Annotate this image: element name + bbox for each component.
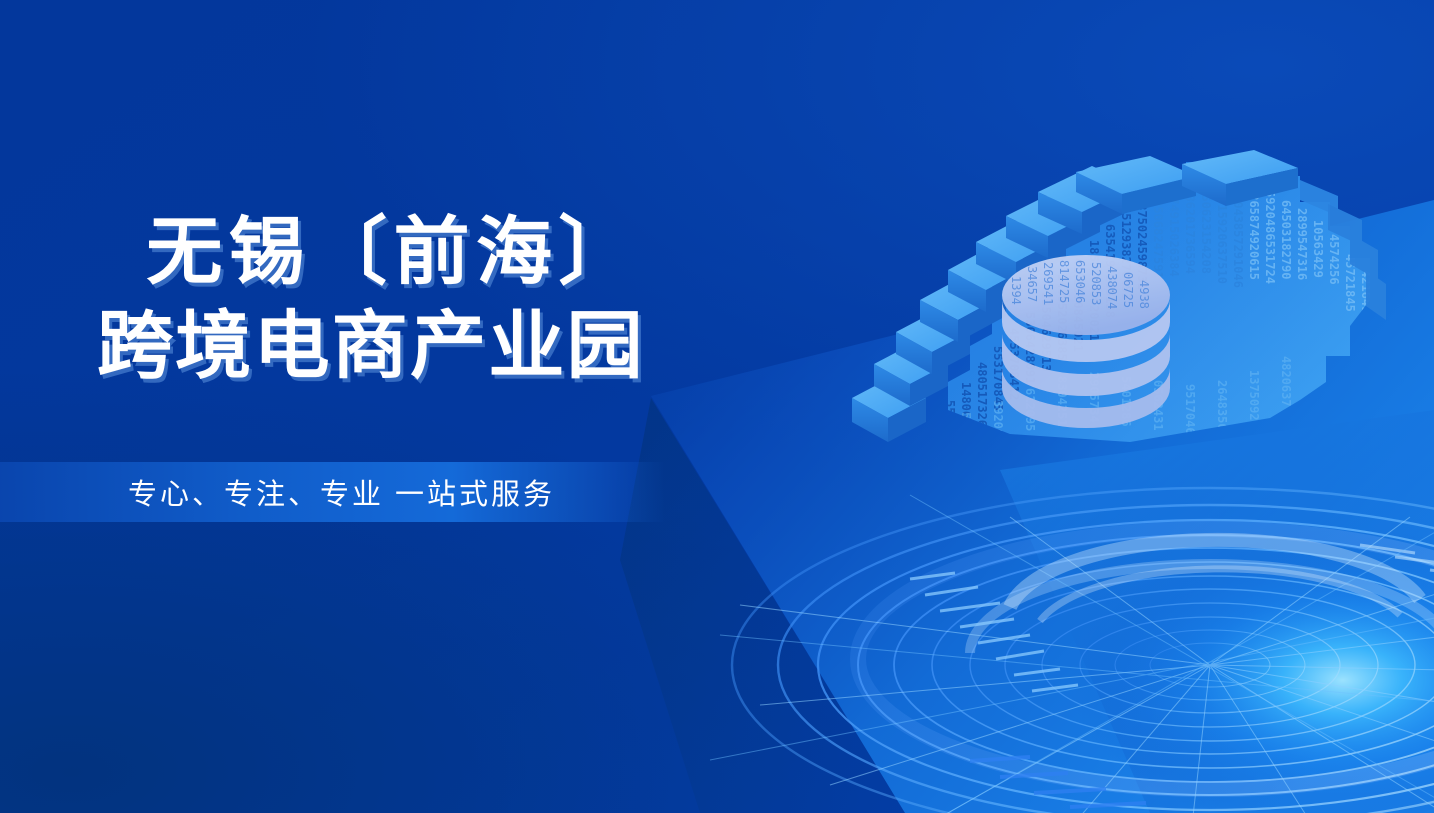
svg-text:520853: 520853 [1089,262,1103,305]
cloud-graphic: 4 7 552170840523 14806123497 4805173264 … [830,150,1400,490]
svg-text:814725: 814725 [1057,260,1071,303]
subtitle-text: 专心、专注、专业 一站式服务 [0,462,665,522]
svg-text:1394: 1394 [1009,276,1023,305]
svg-text:438074: 438074 [1105,266,1119,309]
page-title-line-2: 跨境电商产业园 [0,299,721,393]
page-title-line-1: 无锡〔前海〕 [0,205,721,299]
headline-block: 无锡〔前海〕 跨境电商产业园 [0,205,700,393]
svg-text:4938: 4938 [1137,280,1151,309]
svg-text:269541: 269541 [1041,262,1055,305]
svg-text:06725: 06725 [1121,272,1135,308]
tech-disc-graphic [660,470,1434,813]
svg-text:34657: 34657 [1025,266,1039,302]
svg-text:653046: 653046 [1073,260,1087,303]
banner-root: 4 7 552170840523 14806123497 4805173264 … [0,0,1434,813]
